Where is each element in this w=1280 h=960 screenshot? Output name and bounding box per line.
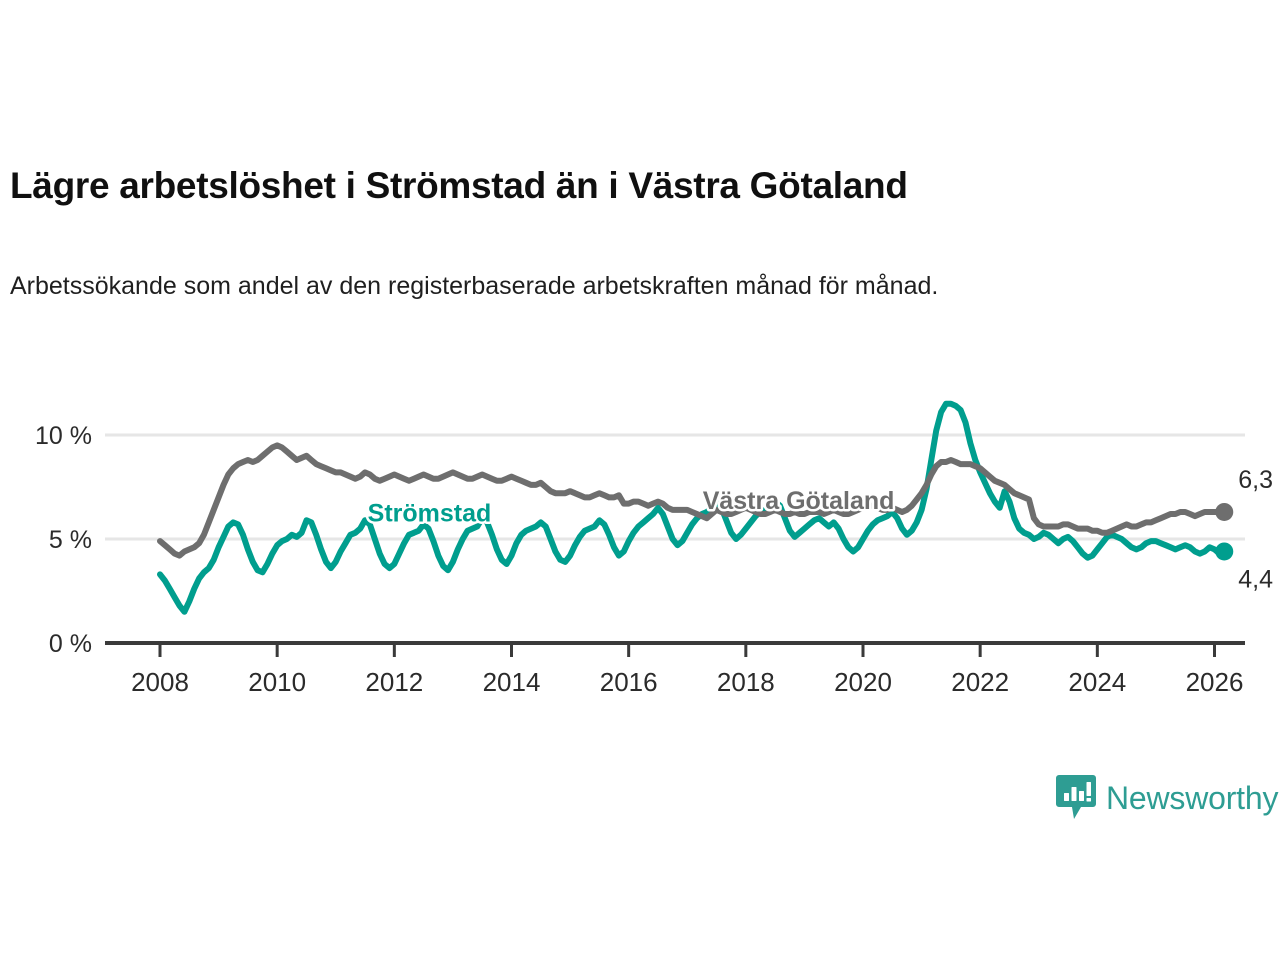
x-tick-label-2008: 2008 — [131, 667, 189, 697]
y-axis-tick-labels: 0 %5 %10 % — [35, 422, 92, 658]
x-tick-label-2026: 2026 — [1186, 667, 1244, 697]
series-end-value-labels: 4,4 %6,3 % — [1238, 466, 1280, 594]
x-tick-label-2016: 2016 — [600, 667, 658, 697]
y-tick-label-5: 5 % — [49, 526, 92, 554]
x-axis-tick-labels: 2008201020122014201620182020202220242026 — [131, 667, 1243, 697]
chart-plot-area: 0 %5 %10 % 20082010201220142016201820202… — [0, 380, 1280, 710]
line-chart-svg: 0 %5 %10 % 20082010201220142016201820202… — [0, 380, 1280, 710]
end-marker-västra-götaland — [1215, 503, 1233, 521]
x-tick-label-2010: 2010 — [248, 667, 306, 697]
x-tick-label-2018: 2018 — [717, 667, 775, 697]
page-title: Lägre arbetslöshet i Strömstad än i Väst… — [10, 165, 1250, 206]
x-tick-label-2012: 2012 — [365, 667, 423, 697]
x-axis-line-and-ticks — [105, 643, 1245, 657]
chart-page: Lägre arbetslöshet i Strömstad än i Väst… — [0, 0, 1280, 960]
series-label-västra-götaland: Västra Götaland — [703, 487, 895, 515]
y-tick-label-0: 0 % — [49, 630, 92, 658]
newsworthy-bar-chart-bubble-icon — [1055, 774, 1097, 822]
end-value-label-västra-götaland: 6,3 % — [1238, 466, 1280, 494]
chart-subtitle: Arbetssökande som andel av den registerb… — [10, 270, 1180, 304]
x-tick-label-2024: 2024 — [1068, 667, 1126, 697]
end-marker-strömstad — [1215, 542, 1233, 560]
x-tick-label-2022: 2022 — [951, 667, 1009, 697]
logo-wordmark: Newsworthy — [1106, 782, 1278, 814]
x-tick-label-2014: 2014 — [483, 667, 541, 697]
series-label-strömstad: Strömstad — [368, 499, 492, 527]
series-end-markers — [1215, 503, 1233, 561]
gridlines-group — [105, 435, 1245, 539]
newsworthy-logo[interactable]: Newsworthy — [1055, 768, 1280, 828]
end-value-label-strömstad: 4,4 % — [1238, 565, 1280, 593]
y-tick-label-10: 10 % — [35, 422, 92, 450]
x-tick-label-2020: 2020 — [834, 667, 892, 697]
